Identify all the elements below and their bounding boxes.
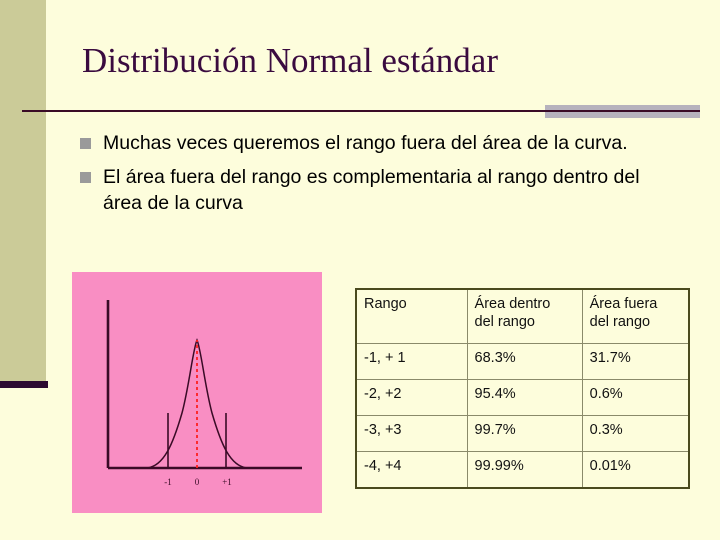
table-header-line: Área dentro [475,296,551,312]
table-header-line: Rango [364,296,407,312]
table-header-cell-area-fuera: Área fuera del rango [582,289,689,344]
table-row: -3, +3 99.7% 0.3% [356,416,689,452]
x-tick-label-plus1: +1 [222,477,232,487]
list-item-label: El área fuera del rango es complementari… [103,164,680,216]
table-cell-rango: -4, +4 [356,452,467,489]
table-header-cell-area-dentro: Área dentro del rango [467,289,582,344]
table-header-cell-rango: Rango [356,289,467,344]
normal-curve-figure: -1 0 +1 [72,272,322,513]
normal-curve-chart: -1 0 +1 [72,272,322,513]
table-cell-area-fuera: 0.01% [582,452,689,489]
table-cell-area-fuera: 0.3% [582,416,689,452]
table-header-line: del rango [590,314,650,330]
sidebar-accent-strip [0,0,46,385]
table-cell-area-dentro: 95.4% [467,380,582,416]
table-cell-area-fuera: 31.7% [582,344,689,380]
table-cell-area-dentro: 99.99% [467,452,582,489]
table-header-row: Rango Área dentro del rango Área fuera d… [356,289,689,344]
area-table-container: Rango Área dentro del rango Área fuera d… [355,288,690,489]
table-cell-area-dentro: 99.7% [467,416,582,452]
table-cell-rango: -3, +3 [356,416,467,452]
square-bullet-icon [80,138,91,149]
square-bullet-icon [80,172,91,183]
table-cell-area-dentro: 68.3% [467,344,582,380]
list-item: El área fuera del rango es complementari… [80,164,680,216]
list-item-label: Muchas veces queremos el rango fuera del… [103,130,628,156]
table-cell-rango: -2, +2 [356,380,467,416]
table-row: -1, + 1 68.3% 31.7% [356,344,689,380]
table-header-line: del rango [475,314,535,330]
table-row: -2, +2 95.4% 0.6% [356,380,689,416]
table-cell-rango: -1, + 1 [356,344,467,380]
sidebar-accent-bar [0,381,48,388]
table-header-line: Área fuera [590,296,658,312]
x-tick-label-zero: 0 [195,477,200,487]
table-row: -4, +4 99.99% 0.01% [356,452,689,489]
table-cell-area-fuera: 0.6% [582,380,689,416]
bullet-list: Muchas veces queremos el rango fuera del… [80,130,680,224]
page-title: Distribución Normal estándar [82,40,682,82]
slide: Distribución Normal estándar Muchas vece… [0,0,720,540]
x-tick-label-minus1: -1 [164,477,172,487]
list-item: Muchas veces queremos el rango fuera del… [80,130,680,156]
area-table: Rango Área dentro del rango Área fuera d… [355,288,690,489]
title-rule [22,110,700,112]
